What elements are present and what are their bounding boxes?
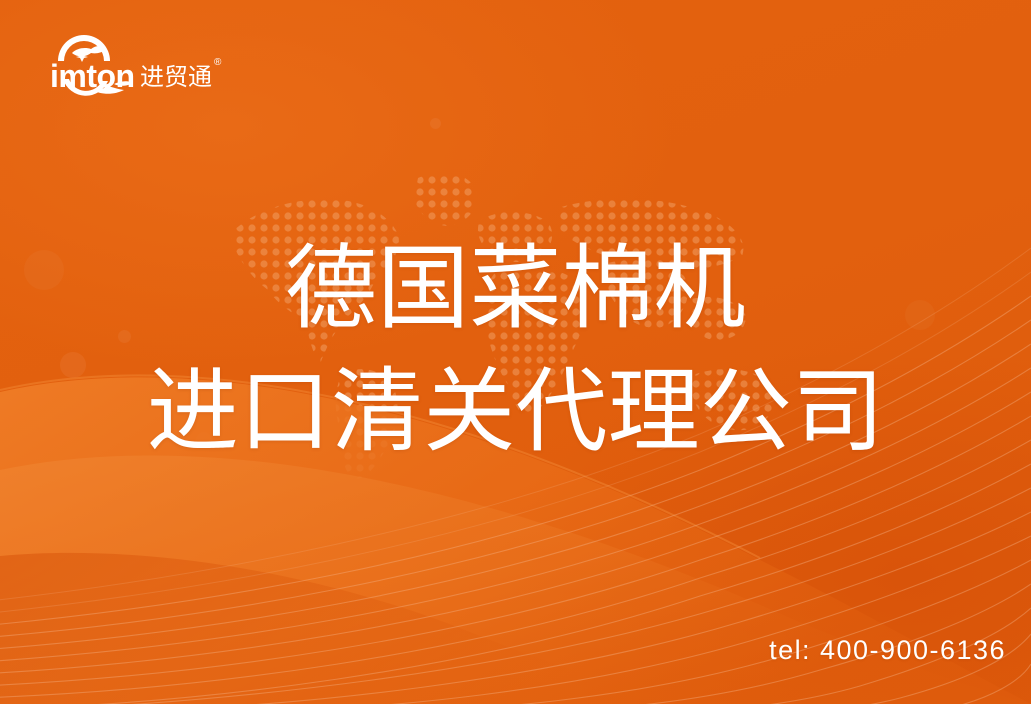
headline-line-1: 德国菜棉机 [0,236,1031,343]
headline-line-2: 进口清关代理公司 [0,359,1031,466]
logo-wordmark: imton [50,58,135,94]
logo-chinese-name: 进贸通 [140,63,212,91]
brand-logo[interactable]: imton 进贸通 ® [36,31,236,99]
promo-banner: imton 进贸通 ® 德国菜棉机 进口清关代理公司 tel: 400-900-… [0,0,1031,704]
page-title: 德国菜棉机 进口清关代理公司 [0,236,1031,465]
trademark-symbol: ® [214,57,222,68]
globe-landmass-icon [72,46,106,56]
contact-telephone[interactable]: tel: 400-900-6136 [769,635,1006,666]
